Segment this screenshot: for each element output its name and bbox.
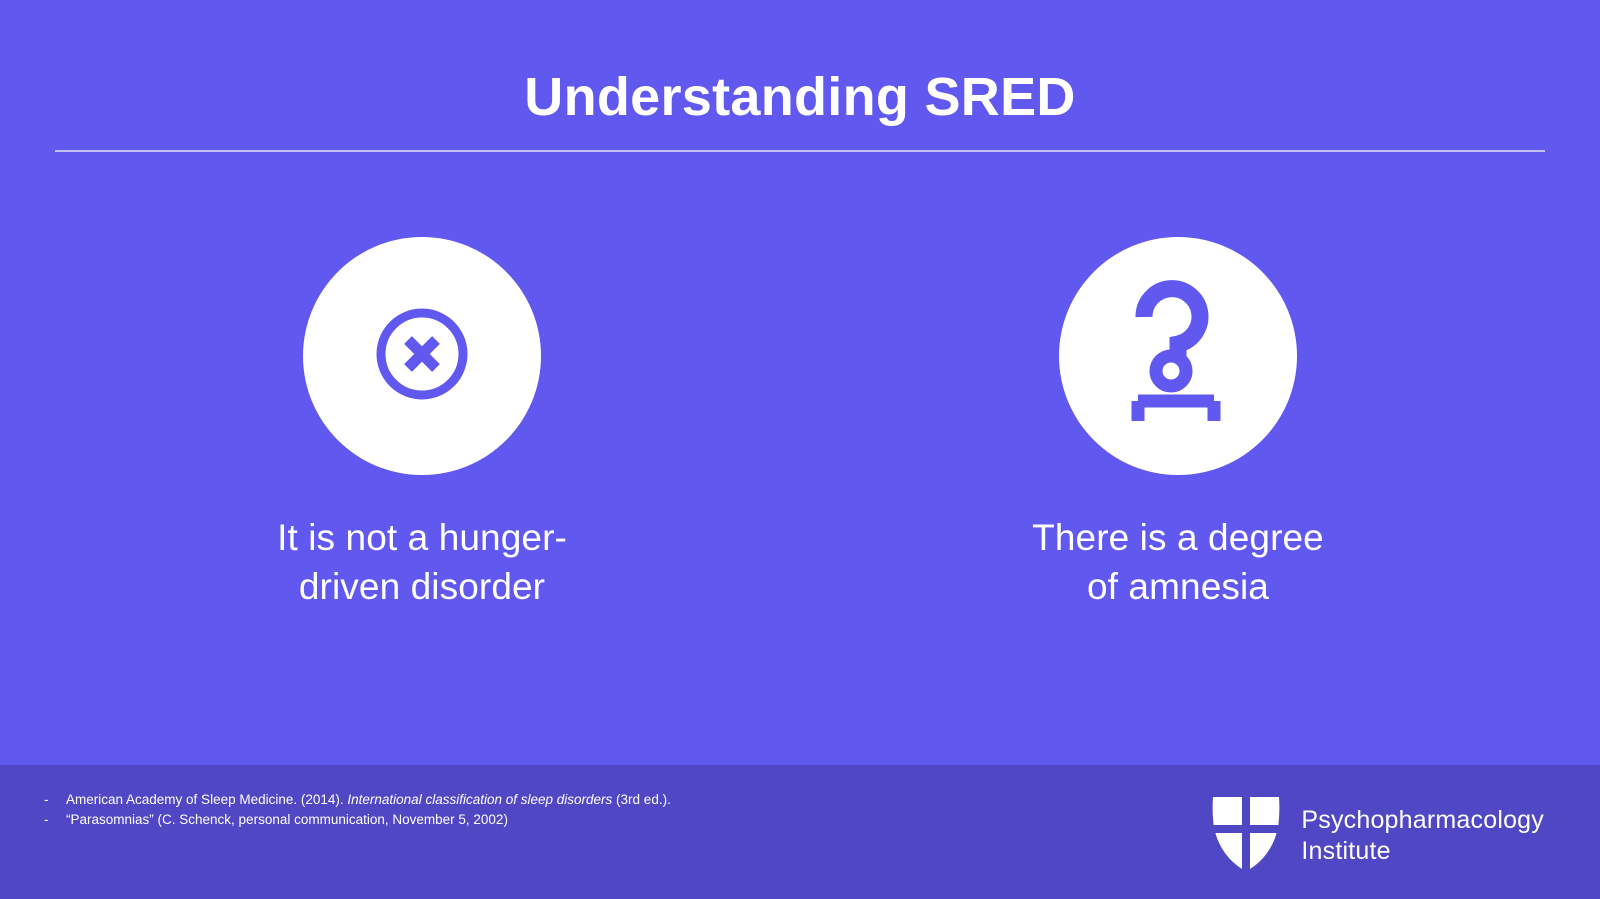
citation-1-pre: American Academy of Sleep Medicine. (201… [66, 792, 347, 807]
citation-1-italic: International classification of sleep di… [347, 792, 612, 807]
brand-name: Psychopharmacology Institute [1301, 805, 1544, 866]
x-circle-icon [366, 298, 478, 415]
page-title: Understanding SRED [0, 66, 1600, 128]
citation-bullet-1: - [44, 790, 66, 810]
citation-text-1: American Academy of Sleep Medicine. (201… [66, 790, 671, 810]
title-divider [55, 150, 1545, 152]
points-container: It is not a hunger- driven disorder Ther… [0, 237, 1600, 611]
point-caption-1-line1: It is not a hunger- [277, 517, 567, 558]
icon-bubble-2 [1059, 237, 1297, 475]
point-card-1: It is not a hunger- driven disorder [242, 237, 602, 611]
point-caption-2-line2: of amnesia [1087, 566, 1269, 607]
citation-list: - American Academy of Sleep Medicine. (2… [44, 790, 671, 829]
brand-name-line2: Institute [1301, 836, 1544, 867]
shield-logo [1209, 791, 1283, 880]
point-caption-1-line2: driven disorder [299, 566, 545, 607]
question-mark-icon [1118, 279, 1238, 434]
citation-1-post: (3rd ed.). [612, 792, 671, 807]
citation-text-2: “Parasomnias” (C. Schenck, personal comm… [66, 810, 508, 830]
point-caption-1: It is not a hunger- driven disorder [277, 513, 567, 611]
point-caption-2: There is a degree of amnesia [1032, 513, 1324, 611]
point-caption-2-line1: There is a degree [1032, 517, 1324, 558]
citation-item: - “Parasomnias” (C. Schenck, personal co… [44, 810, 671, 830]
brand-lockup: Psychopharmacology Institute [1209, 791, 1544, 880]
brand-name-line1: Psychopharmacology [1301, 806, 1544, 834]
footer-bar: - American Academy of Sleep Medicine. (2… [0, 765, 1600, 899]
citation-2-pre: “Parasomnias” (C. Schenck, personal comm… [66, 812, 508, 827]
point-card-2: There is a degree of amnesia [998, 237, 1358, 611]
slide-root: Understanding SRED It is not a hunger- d… [0, 0, 1600, 899]
citation-item: - American Academy of Sleep Medicine. (2… [44, 790, 671, 810]
icon-bubble-1 [303, 237, 541, 475]
citation-bullet-2: - [44, 810, 66, 830]
